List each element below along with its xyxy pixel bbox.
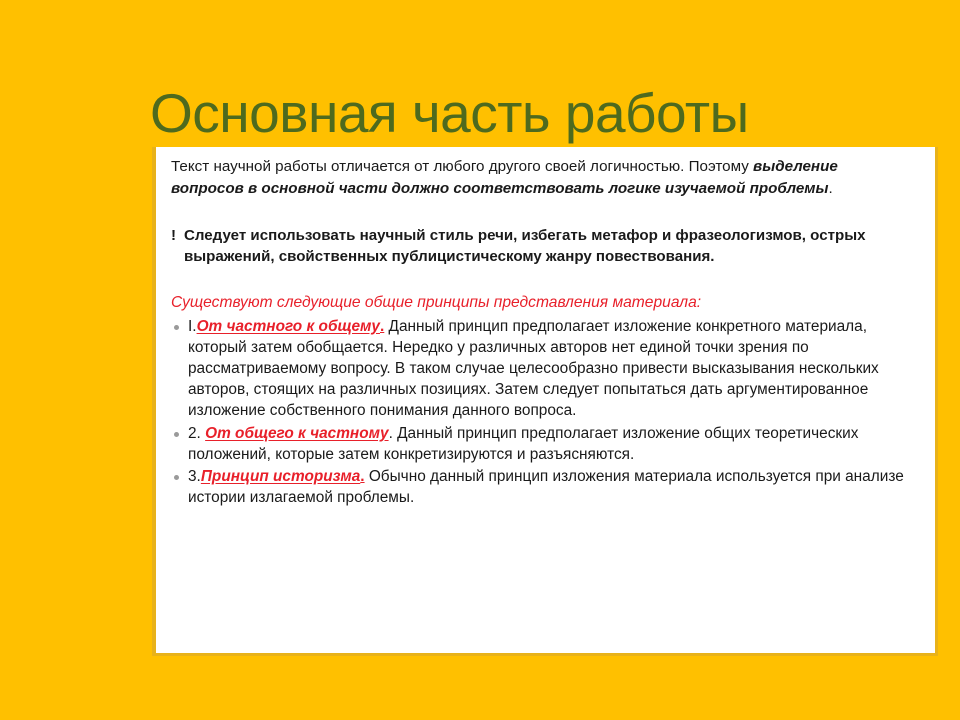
principle-key-term: От общего к частному xyxy=(205,425,388,442)
spacer-after-warning xyxy=(171,268,921,292)
intro-paragraph: Текст научной работы отличается от любог… xyxy=(171,156,871,199)
exclamation-marker-icon: ! xyxy=(171,226,184,247)
intro-text-plain-first: Текст научной работы отличается от любог… xyxy=(171,158,753,175)
content-body: Текст научной работы отличается от любог… xyxy=(171,156,921,508)
principles-list: I.От частного к общему. Данный принцип п… xyxy=(171,316,921,509)
principle-number: 3. xyxy=(188,468,201,485)
principle-key-term: Принцип историзма xyxy=(201,468,360,485)
presentation-slide: Основная часть работы Текст научной рабо… xyxy=(0,0,960,720)
warning-text: Следует использовать научный стиль речи,… xyxy=(184,226,884,268)
spacer-after-intro xyxy=(171,199,921,226)
principle-number: I. xyxy=(188,318,197,335)
intro-text-plain-last: . xyxy=(829,180,833,197)
principle-key-term: От частного к общему xyxy=(197,318,380,335)
list-item: 2. От общего к частному. Данный принцип … xyxy=(171,423,921,465)
list-item: 3.Принцип историзма. Обычно данный принц… xyxy=(171,466,921,508)
slide-title: Основная часть работы xyxy=(150,84,910,143)
list-item: I.От частного к общему. Данный принцип п… xyxy=(171,316,921,422)
content-card: Текст научной работы отличается от любог… xyxy=(152,147,938,656)
principle-number: 2. xyxy=(188,425,201,442)
warning-block: ! Следует использовать научный стиль реч… xyxy=(171,226,921,268)
principles-lead-in: Существуют следующие общие принципы пред… xyxy=(171,292,921,314)
